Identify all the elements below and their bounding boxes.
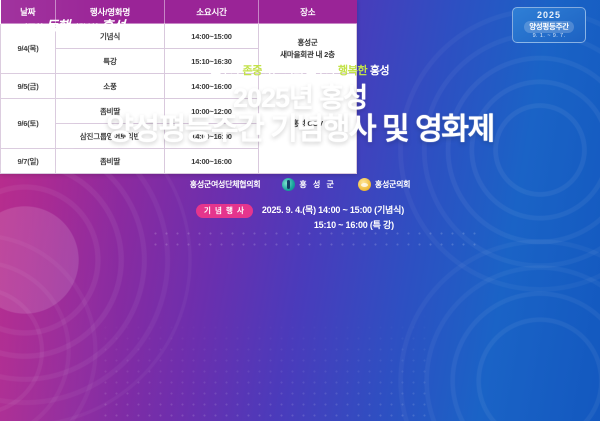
schedule-header-place: 장소	[259, 0, 357, 24]
poster-title-line1: 2025년 홍성	[0, 84, 600, 112]
brand-slogan-part3: 행복한	[73, 21, 96, 34]
organizer-womens-association-label: 홍성군여성단체협의회	[190, 179, 261, 190]
brand-slogan: 따뜻한 동행 행복한 홍성	[18, 16, 124, 36]
venue-saemaul-line1: 홍성군	[297, 38, 317, 47]
cell-date-0907: 9/7(일)	[1, 149, 56, 174]
organizer-womens-association: 홍성군여성단체협의회	[190, 179, 261, 190]
county-council-logo-icon	[358, 178, 371, 191]
organizer-hongseong-county: 홍 성 군	[282, 178, 336, 191]
brand-slogan-part1: 따뜻한	[18, 21, 41, 34]
gender-equality-week-badge: 2025 양성평등주간 9. 1. ~ 9. 7.	[512, 7, 586, 43]
cell-time-0904-ceremony: 14:00~15:00	[165, 24, 259, 49]
brand-slogan-part4: 홍성	[100, 16, 124, 36]
organizer-list: 홍성군여성단체협의회 홍 성 군 홍성군의회	[0, 178, 600, 191]
cell-time-0907-zombiedaughter: 14:00~16:00	[165, 149, 259, 174]
event-info-line-1: 2025. 9. 4.(목) 14:00 ~ 15:00 (기념식)	[262, 203, 404, 218]
poster-title: 2025년 홍성 양성평등주간 기념행사 및 영화제	[0, 84, 600, 147]
tagline-segment-2: 하는 사회 모두가	[262, 65, 338, 77]
organizer-county-council: 홍성군의회	[358, 178, 410, 191]
event-poster: 따뜻한 동행 행복한 홍성 2025 양성평등주간 9. 1. ~ 9. 7. …	[0, 0, 600, 421]
tagline-segment-3: 홍성	[367, 65, 389, 77]
tagline-highlight-1: 존중	[243, 65, 262, 77]
week-badge-date-range: 9. 1. ~ 9. 7.	[533, 34, 566, 40]
schedule-header-time: 소요시간	[165, 0, 259, 24]
brand-slogan-part2: 동행	[45, 16, 69, 36]
organizer-county-council-label: 홍성군의회	[375, 179, 410, 190]
poster-tagline: 모두가 존중하는 사회 모두가 행복한 홍성	[0, 62, 600, 78]
dot-pattern-bottom	[100, 311, 430, 421]
week-badge-name: 양성평등주간	[524, 21, 574, 33]
tagline-highlight-2: 행복한	[338, 65, 367, 77]
cell-name-0907-zombiedaughter: 좀비딸	[56, 149, 165, 174]
venue-saemaul-line2: 새마을회관 내 2층	[280, 50, 335, 59]
event-info-line-2: 15:10 ~ 16:00 (특 강)	[262, 218, 404, 233]
event-info-lines: 2025. 9. 4.(목) 14:00 ~ 15:00 (기념식) 15:10…	[262, 203, 404, 233]
poster-title-line2: 양성평등주간 기념행사 및 영화제	[0, 113, 600, 147]
event-info-badge: 기 념 행 사	[196, 204, 253, 218]
tagline-segment-1: 모두가	[211, 65, 243, 77]
concentric-rings-bottom-right	[310, 151, 600, 421]
event-info: 기 념 행 사 2025. 9. 4.(목) 14:00 ~ 15:00 (기념…	[0, 203, 600, 233]
week-badge-year: 2025	[537, 11, 561, 20]
organizer-hongseong-county-label: 홍 성 군	[299, 179, 336, 190]
hongseong-county-logo-icon	[282, 178, 295, 191]
